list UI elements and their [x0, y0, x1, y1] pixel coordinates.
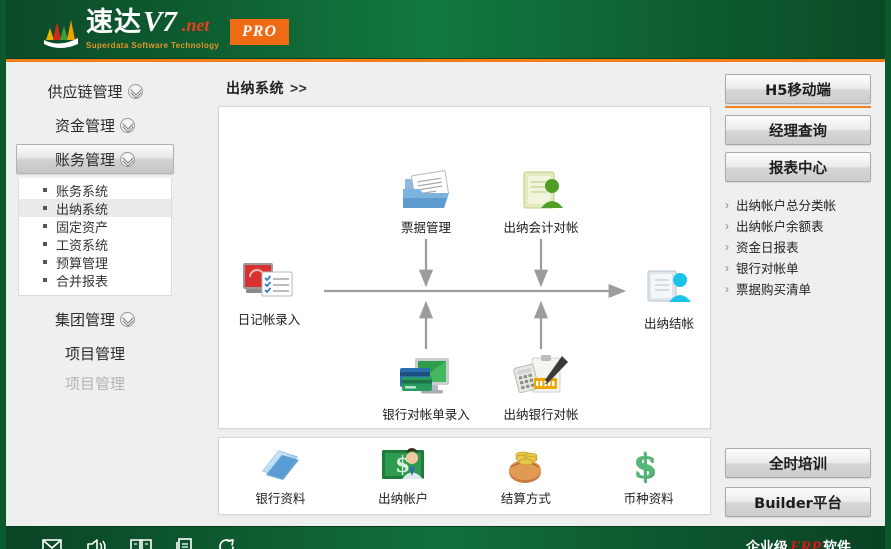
sidebar-item-label: 项目管理	[65, 343, 125, 364]
bullet-icon	[43, 224, 47, 228]
speaker-icon[interactable]	[86, 538, 106, 549]
bullet-icon	[43, 206, 47, 210]
journal-entry-icon	[215, 255, 323, 307]
sidebar-group-label: 集团管理	[55, 309, 115, 330]
bullet-icon	[43, 278, 47, 282]
sidebar-item-label: 固定资产	[56, 217, 108, 236]
tool-cashier-account[interactable]: $ 出纳帐户	[342, 445, 465, 507]
tool-label: 结算方式	[501, 488, 551, 507]
button-label: H5移动端	[765, 79, 831, 100]
brand-logo[interactable]: 速达 V7 .net Superdata Software Technology	[42, 8, 219, 50]
blue-folder-icon	[257, 445, 303, 485]
report-link-daily-fund[interactable]: › 资金日报表	[725, 236, 871, 257]
main-content: 出纳系统>>	[184, 62, 717, 526]
app-header: 速达 V7 .net Superdata Software Technology…	[6, 0, 885, 62]
flow-node-label: 银行对帐单录入	[372, 404, 480, 423]
flow-node-cashier-settlement[interactable]: 出纳结帐	[615, 259, 723, 332]
report-link-list: › 出纳帐户总分类帐 › 出纳帐户余额表 › 资金日报表 › 银行对帐单 ›	[725, 194, 871, 299]
application-window: 速达 V7 .net Superdata Software Technology…	[0, 0, 891, 549]
brand-version: V7	[143, 8, 177, 37]
refresh-check-icon[interactable]	[217, 537, 236, 549]
app-footer: 企业级 ERP 软件	[6, 526, 885, 549]
button-label: Builder平台	[754, 492, 842, 513]
report-link-bank-statement[interactable]: › 银行对帐单	[725, 257, 871, 278]
tool-label: 银行资料	[255, 488, 305, 507]
report-center-button[interactable]: 报表中心	[725, 152, 871, 182]
flow-node-label: 日记帐录入	[215, 309, 323, 328]
brand-net-suffix: .net	[182, 16, 210, 34]
flow-node-label: 出纳银行对帐	[487, 404, 595, 423]
flow-node-label: 票据管理	[372, 217, 480, 236]
calculator-pen-icon	[487, 350, 595, 402]
tool-label: 出纳帐户	[378, 488, 428, 507]
tool-label: 币种资料	[624, 488, 674, 507]
chevron-down-circle-icon[interactable]	[128, 84, 143, 99]
sidebar-item-label: 账务系统	[56, 181, 108, 200]
book-icon[interactable]	[130, 538, 152, 549]
sidebar-group-supply-chain[interactable]: 供应链管理	[16, 76, 174, 106]
bullet-icon	[43, 260, 47, 264]
sidebar-item-cashier-system[interactable]: 出纳系统	[19, 199, 171, 217]
button-label: 报表中心	[769, 157, 827, 178]
tool-currency-info[interactable]: $ $ 币种资料	[587, 445, 710, 507]
sidebar-item-consolidated-reports[interactable]: 合并报表	[19, 271, 171, 289]
builder-platform-button[interactable]: Builder平台	[725, 487, 871, 517]
chevron-down-circle-icon[interactable]	[120, 312, 135, 327]
app-body: 供应链管理 资金管理 账务管理 账务系统 出纳系统	[6, 62, 885, 526]
full-time-training-button[interactable]: 全时培训	[725, 448, 871, 478]
dollar-sign-icon: $ $	[628, 445, 670, 485]
brand-tagline: Superdata Software Technology	[86, 41, 219, 50]
sidebar-item-fixed-assets[interactable]: 固定资产	[19, 217, 171, 235]
footer-tagline: 企业级 ERP 软件	[746, 537, 851, 549]
manager-query-button[interactable]: 经理查询	[725, 115, 871, 145]
sidebar-group-accounting[interactable]: 账务管理	[16, 144, 174, 174]
sidebar-group-fund[interactable]: 资金管理	[16, 110, 174, 140]
tool-bank-info[interactable]: 银行资料	[219, 445, 342, 507]
flow-node-bank-statement-entry[interactable]: 银行对帐单录入	[372, 350, 480, 423]
brand-text: 速达 V7 .net Superdata Software Technology	[86, 8, 219, 50]
report-link-label: 票据购买清单	[736, 279, 811, 298]
sidebar-item-label: 出纳系统	[56, 199, 108, 218]
tool-shortcut-panel: 银行资料 $ 出纳帐户	[218, 437, 711, 515]
flow-node-cashier-accounting[interactable]: 出纳会计对帐	[487, 163, 595, 236]
sidebar-item-project-management[interactable]: 项目管理	[16, 338, 174, 368]
sidebar-group-label: 供应链管理	[47, 81, 122, 102]
flow-node-journal-entry[interactable]: 日记帐录入	[215, 255, 323, 328]
cashier-accounting-icon	[487, 163, 595, 215]
footer-icon-bar	[42, 537, 236, 549]
sidebar-item-label: 合并报表	[56, 271, 108, 290]
sidebar-group-enterprise[interactable]: 集团管理	[16, 304, 174, 334]
bullet-icon	[43, 242, 47, 246]
workflow-diagram-panel: 日记帐录入	[218, 106, 711, 429]
left-sidebar: 供应链管理 资金管理 账务管理 账务系统 出纳系统	[6, 62, 184, 526]
sidebar-item-label: 项目管理	[65, 376, 125, 390]
sidebar-item-project-management-faded[interactable]: 项目管理	[16, 376, 174, 390]
button-label: 经理查询	[769, 120, 827, 141]
sidebar-item-label: 工资系统	[56, 235, 108, 254]
sidebar-spacer	[725, 299, 871, 448]
flow-node-cashier-bank-recon[interactable]: 出纳银行对帐	[487, 350, 595, 423]
bill-management-icon	[372, 163, 480, 215]
report-link-balance-sheet[interactable]: › 出纳帐户余额表	[725, 215, 871, 236]
tool-settlement-mode[interactable]: 结算方式	[465, 445, 588, 507]
cashier-settlement-icon	[615, 259, 723, 311]
breadcrumb: 出纳系统>>	[184, 62, 711, 106]
right-sidebar: H5移动端 经理查询 报表中心 › 出纳帐户总分类帐 › 出纳帐户余额表 ›	[717, 62, 885, 526]
button-label: 全时培训	[769, 453, 827, 474]
sidebar-item-payroll-system[interactable]: 工资系统	[19, 235, 171, 253]
sidebar-item-label: 预算管理	[56, 253, 108, 272]
chevron-down-circle-icon[interactable]	[120, 118, 135, 133]
h5-mobile-button[interactable]: H5移动端	[725, 74, 871, 104]
sidebar-submenu: 账务系统 出纳系统 固定资产 工资系统 预算管理	[18, 178, 172, 296]
svg-text:$: $	[633, 446, 657, 485]
report-link-label: 银行对帐单	[736, 258, 799, 277]
coins-purse-icon	[503, 445, 549, 485]
footer-tagline-post: 软件	[823, 537, 851, 549]
breadcrumb-arrows: >>	[290, 80, 307, 96]
sidebar-item-budget-management[interactable]: 预算管理	[19, 253, 171, 271]
sidebar-group-label: 资金管理	[55, 115, 115, 136]
flow-node-label: 出纳会计对帐	[487, 217, 595, 236]
breadcrumb-current: 出纳系统	[226, 81, 284, 97]
flow-node-bill-management[interactable]: 票据管理	[372, 163, 480, 236]
flow-node-label: 出纳结帐	[615, 313, 723, 332]
bullet-icon	[43, 188, 47, 192]
document-icon[interactable]	[176, 538, 193, 549]
sidebar-item-accounting-system[interactable]: 账务系统	[19, 181, 171, 199]
report-link-bill-purchase[interactable]: › 票据购买清单	[725, 278, 871, 299]
report-link-general-ledger[interactable]: › 出纳帐户总分类帐	[725, 194, 871, 215]
brand-name-cn: 速达	[86, 9, 142, 36]
report-link-label: 资金日报表	[736, 237, 799, 256]
superdata-logo-icon	[42, 14, 82, 48]
sidebar-group-label: 账务管理	[55, 149, 115, 170]
report-link-label: 出纳帐户总分类帐	[736, 195, 836, 214]
report-link-label: 出纳帐户余额表	[736, 216, 824, 235]
footer-tagline-erp: ERP	[790, 539, 821, 549]
pro-badge: PRO	[230, 19, 289, 45]
money-person-icon: $	[379, 445, 427, 485]
bank-statement-icon	[372, 350, 480, 402]
envelope-icon[interactable]	[42, 539, 62, 549]
chevron-down-circle-icon[interactable]	[120, 152, 135, 167]
footer-tagline-pre: 企业级	[746, 537, 788, 549]
